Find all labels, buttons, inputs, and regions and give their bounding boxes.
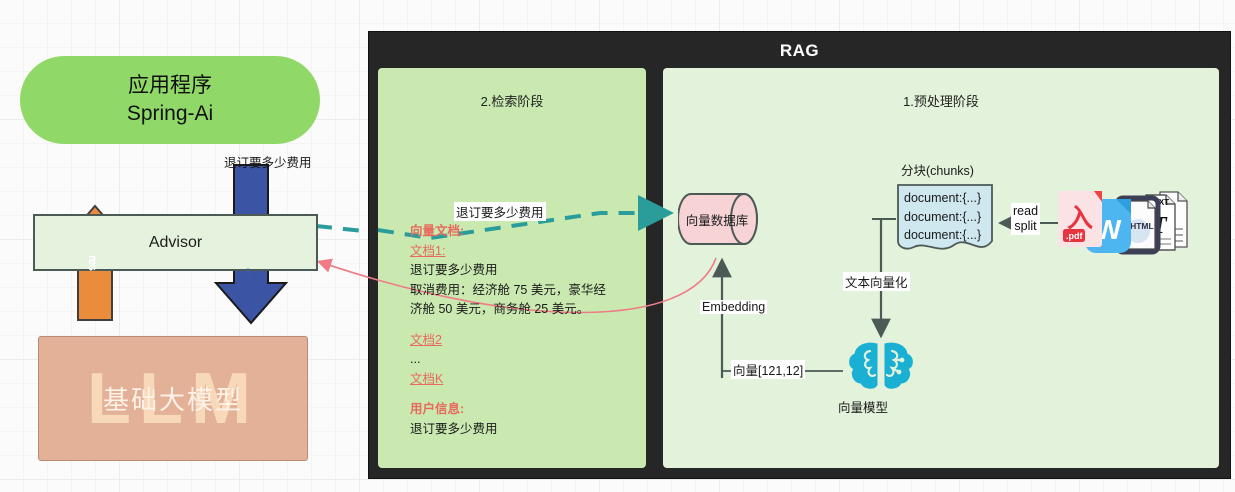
brain-label: 向量模型	[838, 397, 888, 416]
svg-text:.pdf: .pdf	[1066, 231, 1083, 241]
chunk-line-1: document:{...}	[904, 208, 1000, 227]
read-split-label: read split	[1011, 203, 1040, 235]
diagram-canvas: RAG 2.检索阶段 1.预处理阶段 应用程序 Spring-	[0, 0, 1235, 492]
chunk-line-2: document:{...}	[904, 226, 1000, 245]
llm-label: 基础大模型	[103, 380, 243, 417]
panel-preprocess-phase: 1.预处理阶段	[663, 68, 1219, 468]
query-label-top: 退订要多少费用	[222, 152, 314, 171]
application-box[interactable]: 应用程序 Spring-Ai	[20, 56, 320, 144]
advisor-box[interactable]: Advisor	[33, 214, 318, 271]
app-title-line2: Spring-Ai	[127, 100, 213, 128]
retrieval-line-2: 退订要多少费用	[410, 261, 625, 281]
chunks-lines: document:{...}document:{...}document:{..…	[904, 189, 1000, 245]
brain-icon	[846, 338, 916, 394]
llm-box[interactable]: LLM 基础大模型	[38, 336, 308, 461]
text-vectorize-label: 文本向量化	[843, 272, 910, 291]
retrieval-line-6: 文档2	[410, 331, 625, 351]
retrieval-line-0: 向量文档:	[410, 222, 625, 242]
pdf-file-icon: 入 .pdf	[1058, 191, 1102, 247]
retrieval-line-1: 文档1:	[410, 242, 625, 262]
advisor-label: Advisor	[149, 234, 202, 252]
vector-database-label: 向量数据库	[678, 182, 756, 256]
orange-arrow-label: res	[85, 255, 99, 293]
blue-arrow-label: ()	[244, 266, 258, 286]
retrieval-line-11: 退订要多少费用	[410, 420, 625, 440]
rag-title: RAG	[369, 41, 1230, 61]
retrieval-line-8: 文档K	[410, 370, 625, 390]
query-label-dashed: 退订要多少费用	[454, 202, 546, 221]
chunks-title: 分块(chunks)	[901, 160, 974, 179]
panel-preprocess-title: 1.预处理阶段	[663, 91, 1219, 110]
vector-database-cylinder[interactable]: 向量数据库	[678, 182, 768, 256]
split-label: split	[1013, 219, 1038, 234]
embedding-label: Embedding	[700, 300, 767, 314]
vector-label: 向量[121,12]	[731, 360, 805, 379]
source-file-icons: TXT T MHTML W 入	[1056, 185, 1191, 257]
app-title-line1: 应用程序	[128, 72, 212, 100]
read-label: read	[1013, 204, 1038, 219]
chunk-line-0: document:{...}	[904, 189, 1000, 208]
retrieval-line-10: 用户信息:	[410, 400, 625, 420]
svg-text:入: 入	[1067, 204, 1093, 233]
retrieval-line-9	[410, 389, 625, 400]
retrieval-line-5	[410, 320, 625, 331]
retrieval-line-3: 取消费用：经济舱 75 美元，豪华经	[410, 281, 625, 301]
retrieval-line-4: 济舱 50 美元，商务舱 25 美元。	[410, 300, 625, 320]
retrieval-line-7: ...	[410, 350, 625, 370]
retrieved-documents-text: 向量文档:文档1:退订要多少费用取消费用：经济舱 75 美元，豪华经济舱 50 …	[410, 222, 625, 439]
panel-retrieval-title: 2.检索阶段	[378, 91, 646, 110]
